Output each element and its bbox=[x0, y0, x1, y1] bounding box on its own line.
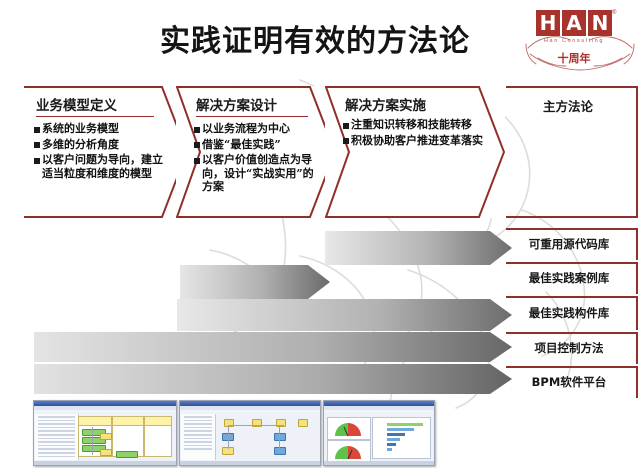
gateway-node bbox=[298, 419, 308, 427]
arrow-best-practice-cases bbox=[180, 265, 330, 299]
gauge-panel bbox=[327, 440, 371, 463]
product-screenshot-strip bbox=[33, 400, 433, 464]
status-bar bbox=[324, 461, 434, 465]
bullet-text: 借鉴“最佳实践” bbox=[202, 138, 281, 152]
bullet-square-icon bbox=[34, 127, 40, 133]
asset-box-bpm-platform[interactable]: BPM软件平台 bbox=[506, 366, 638, 398]
asset-label: 项目控制方法 bbox=[506, 332, 632, 364]
asset-right-border bbox=[636, 366, 638, 398]
task-node bbox=[274, 433, 286, 441]
bullet-square-icon bbox=[194, 142, 200, 148]
logo-letter-h: H bbox=[536, 10, 560, 36]
modeling-tool-screenshot[interactable] bbox=[33, 400, 177, 466]
swimlane-column bbox=[144, 416, 172, 457]
bpm-dashboard-screenshot[interactable] bbox=[323, 400, 435, 466]
bullet-text: 多维的分析角度 bbox=[42, 138, 119, 152]
han-consulting-logo: H A N ® Han Consulting 十周年 bbox=[524, 6, 636, 76]
bullet-square-icon bbox=[194, 127, 200, 133]
bullet-text: 以客户价值创造点为导向，设计“实战实用”的方案 bbox=[202, 153, 322, 194]
list-item: 多维的分析角度 bbox=[34, 138, 170, 152]
arrow-reusable-source-code bbox=[325, 231, 512, 265]
asset-box-best-practice-components[interactable]: 最佳实践构件库 bbox=[506, 296, 638, 330]
phase-heading: 解决方案设计 bbox=[196, 94, 312, 114]
process-node bbox=[116, 451, 138, 458]
connector-line bbox=[228, 425, 229, 449]
phase-box-solution-implementation[interactable]: 解决方案实施 注重知识转移和技能转移 积极协助客户推进变革落实 bbox=[325, 86, 505, 218]
gauge-panel bbox=[327, 417, 371, 440]
process-node bbox=[100, 449, 112, 456]
phase-heading: 业务模型定义 bbox=[36, 94, 164, 114]
connector-line bbox=[228, 425, 284, 426]
column-header bbox=[113, 417, 143, 426]
phase-heading: 解决方案实施 bbox=[345, 94, 481, 114]
registered-trademark-icon: ® bbox=[612, 10, 616, 16]
arrow-project-control bbox=[34, 332, 512, 362]
methodology-right-border bbox=[636, 86, 638, 218]
bullet-text: 积极协助客户推进变革落实 bbox=[351, 134, 483, 148]
column-header bbox=[79, 417, 111, 426]
asset-box-project-control[interactable]: 项目控制方法 bbox=[506, 332, 638, 364]
list-item: 系统的业务模型 bbox=[34, 122, 170, 136]
task-node bbox=[274, 447, 286, 455]
process-designer-screenshot[interactable] bbox=[179, 400, 321, 466]
arrow-best-practice-components bbox=[177, 299, 512, 331]
list-item: 以客户问题为导向，建立适当粒度和维度的模型 bbox=[34, 153, 170, 180]
asset-label: 最佳实践案例库 bbox=[506, 262, 632, 294]
methodology-top-border bbox=[506, 86, 638, 88]
bullet-text: 系统的业务模型 bbox=[42, 122, 119, 136]
phase-box-business-model[interactable]: 业务模型定义 系统的业务模型 多维的分析角度 以客户问题为导向，建立适当粒度和维… bbox=[22, 86, 188, 218]
page-title: 实践证明有效的方法论 bbox=[120, 14, 510, 62]
logo-subtitle: Han Consulting bbox=[536, 38, 612, 44]
column-header bbox=[145, 417, 171, 426]
connector-line bbox=[92, 427, 93, 455]
phase-bullet-list: 注重知识转移和技能转移 积极协助客户推进变革落实 bbox=[343, 118, 489, 149]
asset-label: 可重用源代码库 bbox=[506, 228, 632, 260]
phase-divider bbox=[196, 116, 308, 117]
bullet-text: 注重知识转移和技能转移 bbox=[351, 118, 472, 132]
asset-right-border bbox=[636, 228, 638, 260]
phase-bullet-list: 以业务流程为中心 借鉴“最佳实践” 以客户价值创造点为导向，设计“实战实用”的方… bbox=[194, 122, 322, 196]
logo-letter-boxes: H A N bbox=[536, 10, 612, 36]
logo-letter-n: N bbox=[588, 10, 612, 36]
status-bar bbox=[180, 461, 320, 465]
bullet-square-icon bbox=[343, 123, 349, 129]
main-methodology-box[interactable]: 主方法论 bbox=[506, 86, 638, 218]
list-item: 借鉴“最佳实践” bbox=[194, 138, 322, 152]
status-bar bbox=[34, 461, 176, 465]
phase-divider bbox=[36, 116, 154, 117]
asset-label: BPM软件平台 bbox=[506, 366, 632, 398]
list-item: 积极协助客户推进变革落实 bbox=[343, 134, 489, 148]
bullet-square-icon bbox=[34, 142, 40, 148]
connector-line bbox=[279, 425, 280, 451]
bullet-square-icon bbox=[34, 158, 40, 164]
process-node bbox=[100, 433, 112, 440]
asset-label: 最佳实践构件库 bbox=[506, 296, 632, 330]
main-methodology-label: 主方法论 bbox=[506, 96, 630, 115]
asset-right-border bbox=[636, 262, 638, 294]
bullet-text: 以客户问题为导向，建立适当粒度和维度的模型 bbox=[42, 153, 170, 180]
slide-canvas: 实践证明有效的方法论 H A N ® Han Consulting bbox=[0, 0, 640, 468]
asset-box-best-practice-cases[interactable]: 最佳实践案例库 bbox=[506, 262, 638, 294]
asset-right-border bbox=[636, 332, 638, 364]
list-item: 注重知识转移和技能转移 bbox=[343, 118, 489, 132]
list-item: 以业务流程为中心 bbox=[194, 122, 322, 136]
bullet-square-icon bbox=[194, 158, 200, 164]
toolbar bbox=[34, 410, 176, 413]
logo-anniversary-label: 十周年 bbox=[534, 50, 614, 66]
arrow-bpm-platform bbox=[34, 364, 512, 394]
bullet-square-icon bbox=[343, 138, 349, 144]
bar-chart-panel bbox=[372, 417, 431, 459]
toolbar bbox=[324, 410, 434, 413]
asset-right-border bbox=[636, 296, 638, 330]
toolbar bbox=[180, 410, 320, 413]
methodology-bottom-border bbox=[506, 216, 638, 218]
asset-box-reusable-source-code[interactable]: 可重用源代码库 bbox=[506, 228, 638, 260]
bullet-text: 以业务流程为中心 bbox=[202, 122, 290, 136]
list-item: 以客户价值创造点为导向，设计“实战实用”的方案 bbox=[194, 153, 322, 194]
logo-letter-a: A bbox=[562, 10, 586, 36]
bar-chart bbox=[387, 423, 426, 453]
tree-panel bbox=[181, 414, 216, 460]
phase-box-solution-design[interactable]: 解决方案设计 以业务流程为中心 借鉴“最佳实践” 以客户价值创造点为导向，设计“… bbox=[176, 86, 336, 218]
tree-panel bbox=[35, 414, 79, 460]
phase-bullet-list: 系统的业务模型 多维的分析角度 以客户问题为导向，建立适当粒度和维度的模型 bbox=[34, 122, 170, 182]
